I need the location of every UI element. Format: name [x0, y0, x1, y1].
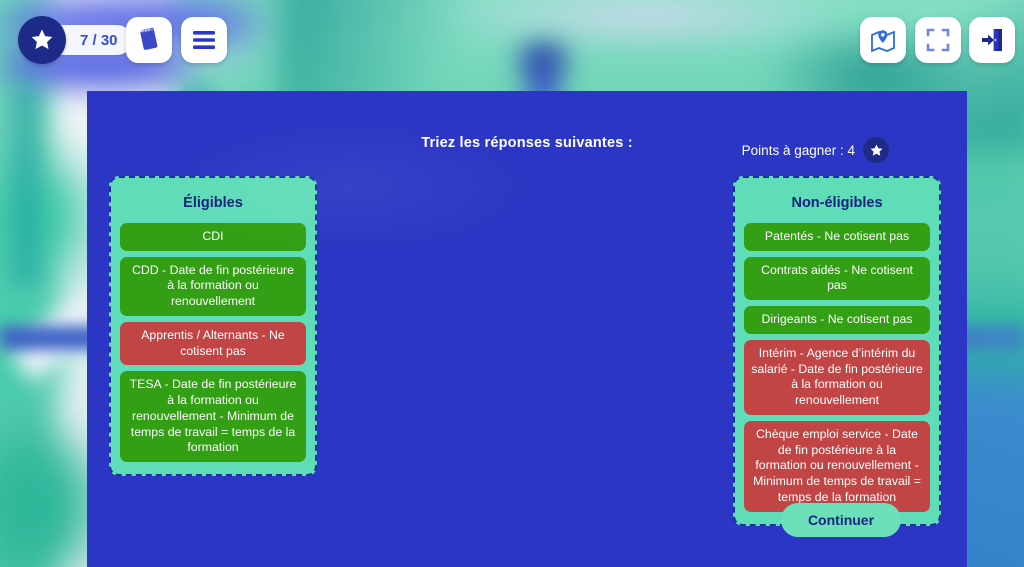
hamburger-menu-icon — [191, 29, 217, 51]
star-icon — [29, 27, 55, 53]
map-pin-icon — [869, 26, 897, 54]
flashcards-button[interactable] — [126, 17, 172, 63]
answer-card[interactable]: Apprentis / Alternants - Ne cotisent pas — [120, 322, 306, 365]
continue-button[interactable]: Continuer — [781, 503, 901, 537]
points-label: Points à gagner : 4 — [742, 143, 855, 158]
star-circle — [18, 16, 66, 64]
drop-zone-eligibles[interactable]: Éligibles CDI CDD - Date de fin postérie… — [109, 176, 317, 476]
game-screen: 7 / 30 — [0, 0, 1024, 567]
answer-card[interactable]: CDD - Date de fin postérieure à la forma… — [120, 257, 306, 316]
answer-card[interactable]: Patentés - Ne cotisent pas — [744, 223, 930, 251]
answer-card[interactable]: Intérim - Agence d’intérim du salarié - … — [744, 340, 930, 415]
answer-card[interactable]: Dirigeants - Ne cotisent pas — [744, 306, 930, 334]
drop-zone-title: Non-éligibles — [744, 188, 930, 223]
map-button[interactable] — [860, 17, 906, 63]
answer-card[interactable]: Chèque emploi service - Date de fin post… — [744, 421, 930, 512]
points-to-earn: Points à gagner : 4 — [742, 137, 889, 163]
answer-card[interactable]: CDI — [120, 223, 306, 251]
score-badge: 7 / 30 — [18, 16, 132, 64]
menu-button[interactable] — [181, 17, 227, 63]
points-star-badge — [863, 137, 889, 163]
drop-zone-non-eligibles[interactable]: Non-éligibles Patentés - Ne cotisent pas… — [733, 176, 941, 526]
answer-card[interactable]: Contrats aidés - Ne cotisent pas — [744, 257, 930, 300]
activity-panel: Triez les réponses suivantes : Points à … — [87, 91, 967, 567]
answer-card[interactable]: TESA - Date de fin postérieure à la form… — [120, 371, 306, 462]
exit-door-icon — [978, 26, 1006, 54]
drop-zone-title: Éligibles — [120, 188, 306, 223]
notebook-icon — [135, 26, 163, 54]
fullscreen-button[interactable] — [915, 17, 961, 63]
exit-button[interactable] — [969, 17, 1015, 63]
fullscreen-icon — [925, 27, 951, 53]
